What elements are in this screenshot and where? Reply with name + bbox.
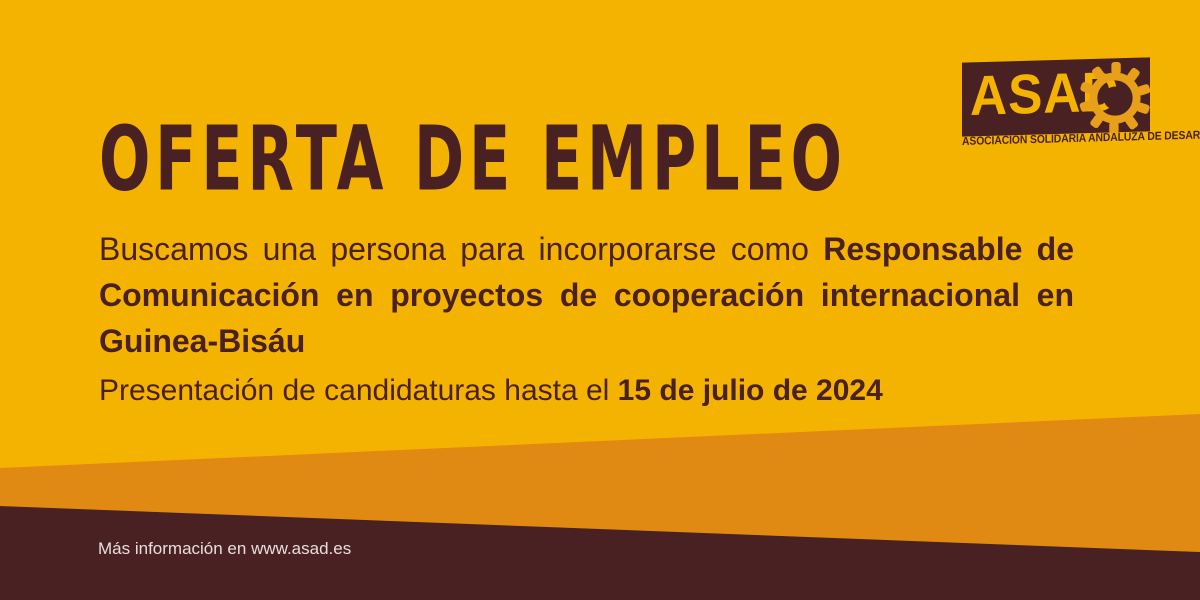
deadline-date: 15 de julio de 2024: [618, 374, 883, 407]
job-description-block: Buscamos una persona para incorporarse c…: [99, 226, 1074, 410]
job-lede: Buscamos una persona para incorporarse c…: [99, 226, 1074, 364]
page-title: OFERTA DE EMPLEO: [99, 113, 847, 204]
poster-canvas: ASAD ASOCIACION SOLIDARIA: [0, 0, 1200, 600]
job-lede-plain: Buscamos una persona para incorporarse c…: [99, 231, 823, 267]
application-deadline: Presentación de candidaturas hasta el 15…: [99, 372, 1074, 410]
asad-logo: ASAD ASOCIACION SOLIDARIA: [960, 60, 1156, 156]
footer-more-info: Más información en www.asad.es: [98, 538, 351, 559]
logo-wordmark: ASAD: [970, 63, 1080, 128]
deadline-plain: Presentación de candidaturas hasta el: [99, 374, 618, 407]
gear-sun-icon: [1078, 62, 1152, 134]
